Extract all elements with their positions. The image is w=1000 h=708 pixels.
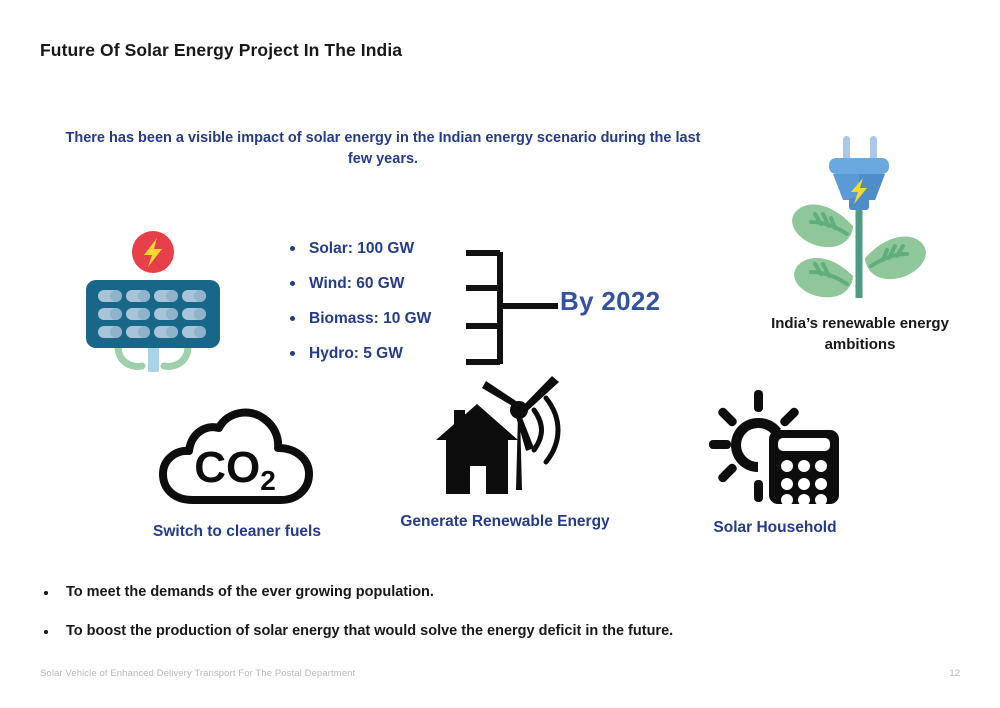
feature-caption: Switch to cleaner fuels — [117, 522, 357, 543]
slide-subtitle: There has been a visible impact of solar… — [52, 128, 714, 169]
list-item: Wind: 60 GW — [290, 267, 470, 300]
slide-canvas: Future Of Solar Energy Project In The In… — [0, 0, 1000, 708]
target-year-label: By 2022 — [560, 286, 660, 317]
bullet-text: To meet the demands of the ever growing … — [66, 583, 434, 602]
house-wind-turbine-icon — [385, 386, 625, 498]
page-number: 12 — [949, 668, 960, 679]
capacity-label: Biomass: 10 GW — [309, 310, 431, 328]
list-item: Hydro: 5 GW — [290, 337, 470, 370]
capacity-label: Hydro: 5 GW — [309, 345, 403, 363]
bullet-dot-icon — [290, 281, 295, 286]
list-item: To meet the demands of the ever growing … — [40, 583, 940, 602]
solar-panel-icon — [78, 228, 228, 376]
bullet-dot-icon — [290, 316, 295, 321]
capacity-label: Wind: 60 GW — [309, 275, 404, 293]
sun-solar-panel-icon — [655, 392, 895, 504]
capacity-list: Solar: 100 GW Wind: 60 GW Biomass: 10 GW… — [290, 232, 470, 372]
feature-generate-renewable-energy: Generate Renewable Energy — [385, 386, 625, 533]
plug-plant-caption: India’s renewable energy ambitions — [762, 314, 958, 355]
footer-label: Solar Vehicle of Enhanced Delivery Trans… — [40, 668, 355, 679]
list-item: Biomass: 10 GW — [290, 302, 470, 335]
list-item: Solar: 100 GW — [290, 232, 470, 265]
feature-solar-household: Solar Household — [655, 392, 895, 539]
bullet-dot-icon — [44, 630, 48, 634]
bullet-dot-icon — [290, 351, 295, 356]
page-title: Future Of Solar Energy Project In The In… — [40, 40, 402, 61]
bottom-bullet-list: To meet the demands of the ever growing … — [40, 583, 940, 661]
bullet-dot-icon — [44, 591, 48, 595]
bullet-dot-icon — [290, 246, 295, 251]
bullet-text: To boost the production of solar energy … — [66, 622, 673, 641]
list-item: To boost the production of solar energy … — [40, 622, 940, 641]
plug-plant-icon — [775, 130, 943, 298]
co2-cloud-icon: CO2 — [117, 396, 357, 508]
feature-switch-cleaner-fuels: CO2 Switch to cleaner fuels — [117, 396, 357, 543]
capacity-label: Solar: 100 GW — [309, 240, 414, 258]
feature-caption: Solar Household — [655, 518, 895, 539]
feature-caption: Generate Renewable Energy — [385, 512, 625, 533]
